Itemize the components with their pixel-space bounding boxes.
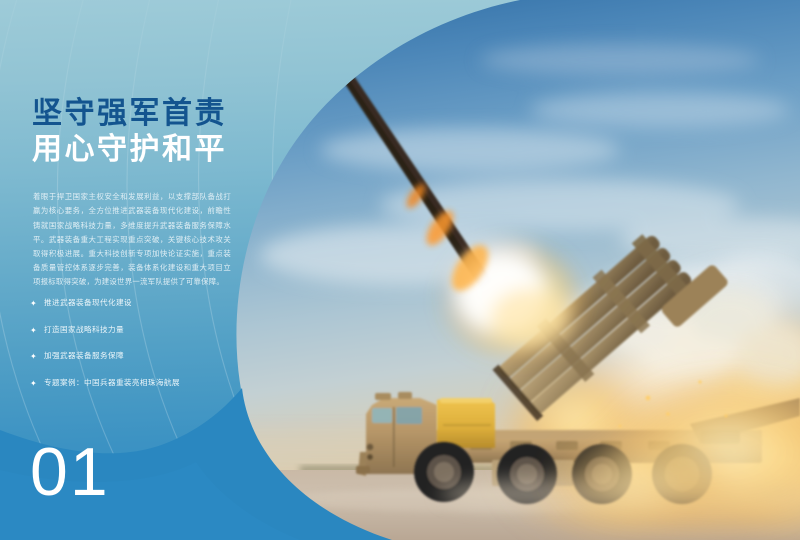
bullet-label: 推进武器装备现代化建设 <box>44 298 132 307</box>
bullet-label: 专题案例：中国兵器重装亮相珠海航展 <box>44 378 180 387</box>
bullet-marker-icon: ✦ <box>30 379 37 389</box>
text-content-column: 坚守强军首责 用心守护和平 着眼于捍卫国家主权安全和发展利益，以支撑部队备战打赢… <box>0 0 300 540</box>
headline-line-1: 坚守强军首责 <box>32 96 282 132</box>
slide-poster: 坚守强军首责 用心守护和平 着眼于捍卫国家主权安全和发展利益，以支撑部队备战打赢… <box>0 0 800 540</box>
bullet-marker-icon: ✦ <box>30 299 37 309</box>
bullet-marker-icon: ✦ <box>30 326 37 336</box>
list-item: ✦ 打造国家战略科技力量 <box>30 325 270 335</box>
list-item: ✦ 推进武器装备现代化建设 <box>30 298 270 308</box>
page-number: 01 <box>30 438 110 506</box>
bullet-label: 加强武器装备服务保障 <box>44 351 124 360</box>
list-item: ✦ 专题案例：中国兵器重装亮相珠海航展 <box>30 378 270 388</box>
bullet-label: 打造国家战略科技力量 <box>44 325 124 334</box>
bullet-list: ✦ 推进武器装备现代化建设 ✦ 打造国家战略科技力量 ✦ 加强武器装备服务保障 … <box>30 298 270 404</box>
body-paragraph: 着眼于捍卫国家主权安全和发展利益，以支撑部队备战打赢为核心要务，全方位推进武器装… <box>33 190 231 289</box>
page-title: 坚守强军首责 用心守护和平 <box>32 96 282 168</box>
headline-line-2: 用心守护和平 <box>32 132 282 168</box>
list-item: ✦ 加强武器装备服务保障 <box>30 351 270 361</box>
bullet-marker-icon: ✦ <box>30 352 37 362</box>
